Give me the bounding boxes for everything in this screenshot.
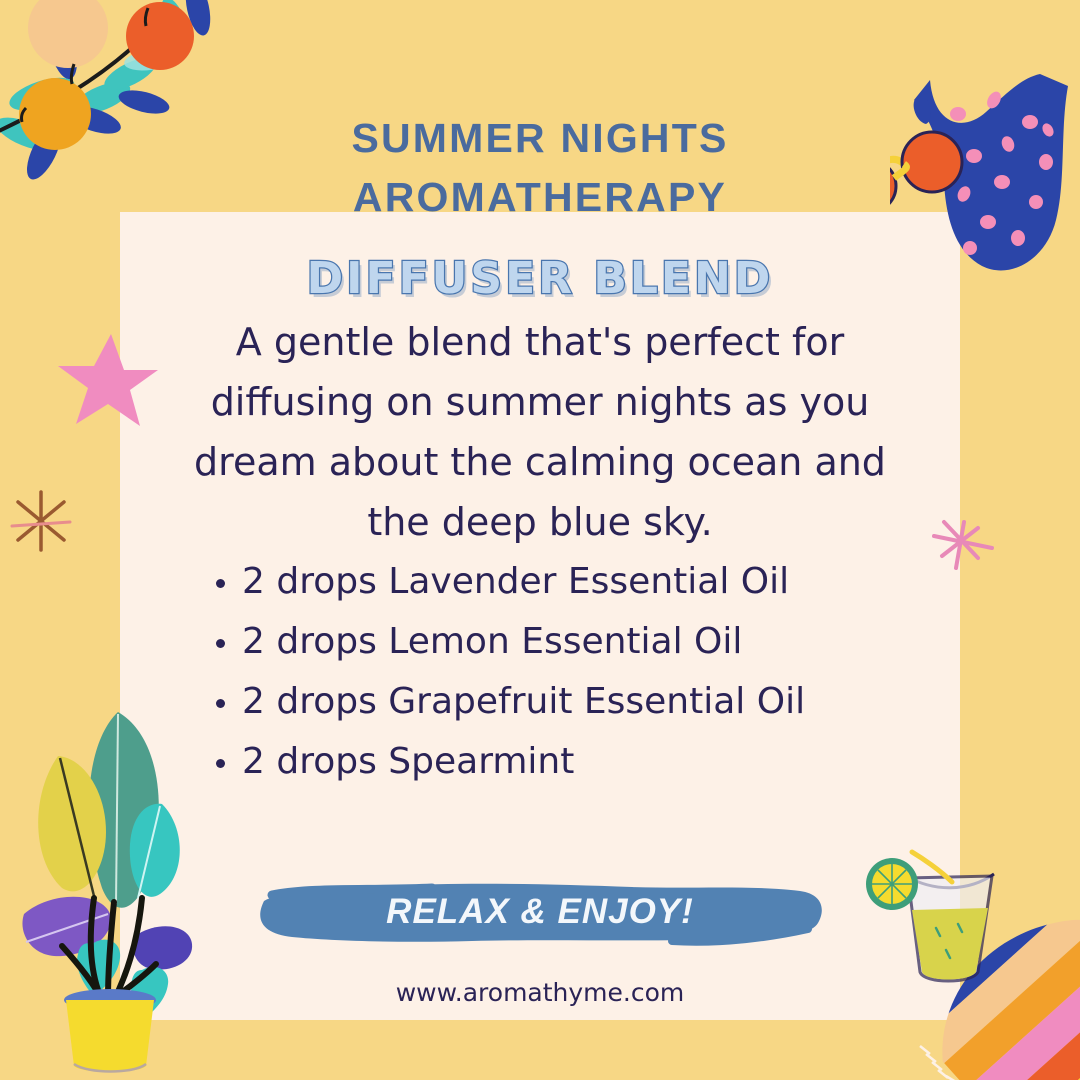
relax-and-enjoy-banner[interactable]: RELAX & ENJOY!: [252, 875, 828, 951]
pink-sparkle-shape: [920, 500, 1020, 605]
brown-sparkle-shape: [6, 486, 76, 561]
cta-label: RELAX & ENJOY!: [386, 892, 694, 932]
list-item: 2 drops Lemon Essential Oil: [200, 612, 960, 672]
pink-star-shape: [58, 330, 158, 435]
description-line-4: the deep blue sky.: [160, 492, 920, 552]
description-line-1: A gentle blend that's perfect for: [160, 312, 920, 372]
ingredient-list: 2 drops Lavender Essential Oil 2 drops L…: [200, 552, 960, 792]
beach-items-illustration: [860, 848, 1080, 1080]
lemonade-glass: [866, 852, 994, 981]
description-line-2: diffusing on summer nights as you: [160, 372, 920, 432]
potted-plant-illustration: [10, 692, 210, 1080]
list-item: 2 drops Lavender Essential Oil: [200, 552, 960, 612]
description-text: A gentle blend that's perfect for diffus…: [160, 312, 920, 552]
swimsuit-illustration: [890, 70, 1080, 325]
description-line-3: dream about the calming ocean and: [160, 432, 920, 492]
title-line-1: SUMMER NIGHTS: [351, 115, 728, 161]
list-item: 2 drops Grapefruit Essential Oil: [200, 672, 960, 732]
list-item: 2 drops Spearmint: [200, 732, 960, 792]
poster-canvas: SUMMER NIGHTS AROMATHERAPY DIFFUSER BLEN…: [0, 0, 1080, 1080]
